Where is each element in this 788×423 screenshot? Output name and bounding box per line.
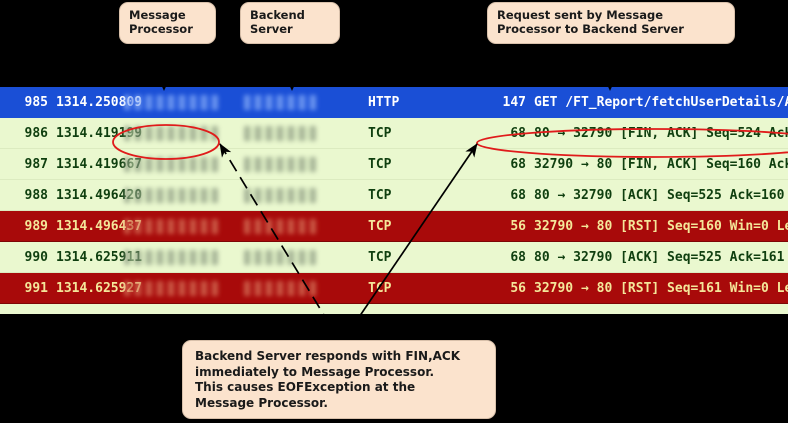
callout-note-line2: immediately to Message Processor. — [195, 365, 495, 381]
packet-destination-ip-blurred — [244, 157, 316, 172]
packet-length: 68 — [496, 149, 526, 180]
packet-number: 988 — [0, 180, 48, 211]
callout-message-processor-line2: Processor — [129, 22, 215, 36]
packet-destination-ip-blurred — [244, 95, 316, 110]
packet-info: 32790 → 80 [FIN, ACK] Seq=160 Ack=525 Wi… — [534, 149, 788, 180]
packet-destination-ip-blurred — [244, 126, 316, 141]
packet-source-ip-blurred — [124, 157, 218, 172]
packet-length: 56 — [496, 273, 526, 304]
packet-info: GET /FT_Report/fetchUserDetails/ARN-0262… — [534, 87, 788, 118]
callout-request-sent-line1: Request sent by Message — [497, 8, 734, 22]
screenshot-root: Message Processor Backend Server Request… — [0, 0, 788, 423]
packet-destination-ip-blurred — [244, 219, 316, 234]
packet-protocol: TCP — [368, 180, 391, 211]
callout-request-sent-line2: Processor to Backend Server — [497, 22, 734, 36]
packet-number: 991 — [0, 273, 48, 304]
packet-row[interactable]: 9891314.496437TCP5632790 → 80 [RST] Seq=… — [0, 211, 788, 242]
packet-row[interactable]: 9881314.496420TCP6880 → 32790 [ACK] Seq=… — [0, 180, 788, 211]
packet-row[interactable]: 9861314.419199TCP6880 → 32790 [FIN, ACK]… — [0, 118, 788, 149]
packet-protocol: TCP — [368, 273, 391, 304]
packet-list-table[interactable]: 9851314.250809HTTP147GET /FT_Report/fetc… — [0, 86, 788, 314]
callout-message-processor: Message Processor — [119, 2, 216, 44]
packet-info: 80 → 32790 [ACK] Seq=525 Ack=161 Win=268… — [534, 242, 788, 273]
callout-message-processor-line1: Message — [129, 8, 215, 22]
packet-destination-ip-blurred — [244, 281, 316, 296]
packet-source-ip-blurred — [124, 95, 218, 110]
packet-length: 68 — [496, 180, 526, 211]
callout-note-line4: Message Processor. — [195, 396, 495, 412]
packet-protocol: TCP — [368, 242, 391, 273]
callout-note-line3: This causes EOFException at the — [195, 380, 495, 396]
packet-destination-ip-blurred — [244, 188, 316, 203]
packet-row[interactable]: 9851314.250809HTTP147GET /FT_Report/fetc… — [0, 87, 788, 118]
callout-explanation-note: Backend Server responds with FIN,ACK imm… — [182, 340, 496, 419]
packet-source-ip-blurred — [124, 281, 218, 296]
packet-number: 987 — [0, 149, 48, 180]
callout-backend-server-line1: Backend — [250, 8, 339, 22]
packet-source-ip-blurred — [124, 219, 218, 234]
packet-length: 147 — [496, 87, 526, 118]
packet-info: 32790 → 80 [RST] Seq=160 Win=0 Len=0 — [534, 211, 788, 242]
callout-note-line1: Backend Server responds with FIN,ACK — [195, 349, 495, 365]
packet-row[interactable]: 9871314.419667TCP6832790 → 80 [FIN, ACK]… — [0, 149, 788, 180]
packet-number: 985 — [0, 87, 48, 118]
packet-number: 990 — [0, 242, 48, 273]
packet-info: 80 → 32790 [FIN, ACK] Seq=524 Ack=81 Win… — [534, 118, 788, 149]
packet-length: 68 — [496, 242, 526, 273]
packet-info: 80 → 32790 [ACK] Seq=525 Ack=160 Win=268… — [534, 180, 788, 211]
callout-request-sent: Request sent by Message Processor to Bac… — [487, 2, 735, 44]
packet-protocol: TCP — [368, 149, 391, 180]
packet-protocol: TCP — [368, 211, 391, 242]
packet-length: 56 — [496, 211, 526, 242]
packet-protocol: TCP — [368, 118, 391, 149]
packet-number: 986 — [0, 118, 48, 149]
packet-source-ip-blurred — [124, 188, 218, 203]
packet-row[interactable]: 9901314.625911TCP6880 → 32790 [ACK] Seq=… — [0, 242, 788, 273]
packet-number: 989 — [0, 211, 48, 242]
callout-backend-server-line2: Server — [250, 22, 339, 36]
packet-length: 68 — [496, 118, 526, 149]
callout-backend-server: Backend Server — [240, 2, 340, 44]
packet-destination-ip-blurred — [244, 250, 316, 265]
packet-source-ip-blurred — [124, 250, 218, 265]
packet-protocol: HTTP — [368, 87, 399, 118]
packet-source-ip-blurred — [124, 126, 218, 141]
packet-info: 32790 → 80 [RST] Seq=161 Win=0 Len=0 — [534, 273, 788, 304]
packet-row[interactable]: 9911314.625927TCP5632790 → 80 [RST] Seq=… — [0, 273, 788, 304]
